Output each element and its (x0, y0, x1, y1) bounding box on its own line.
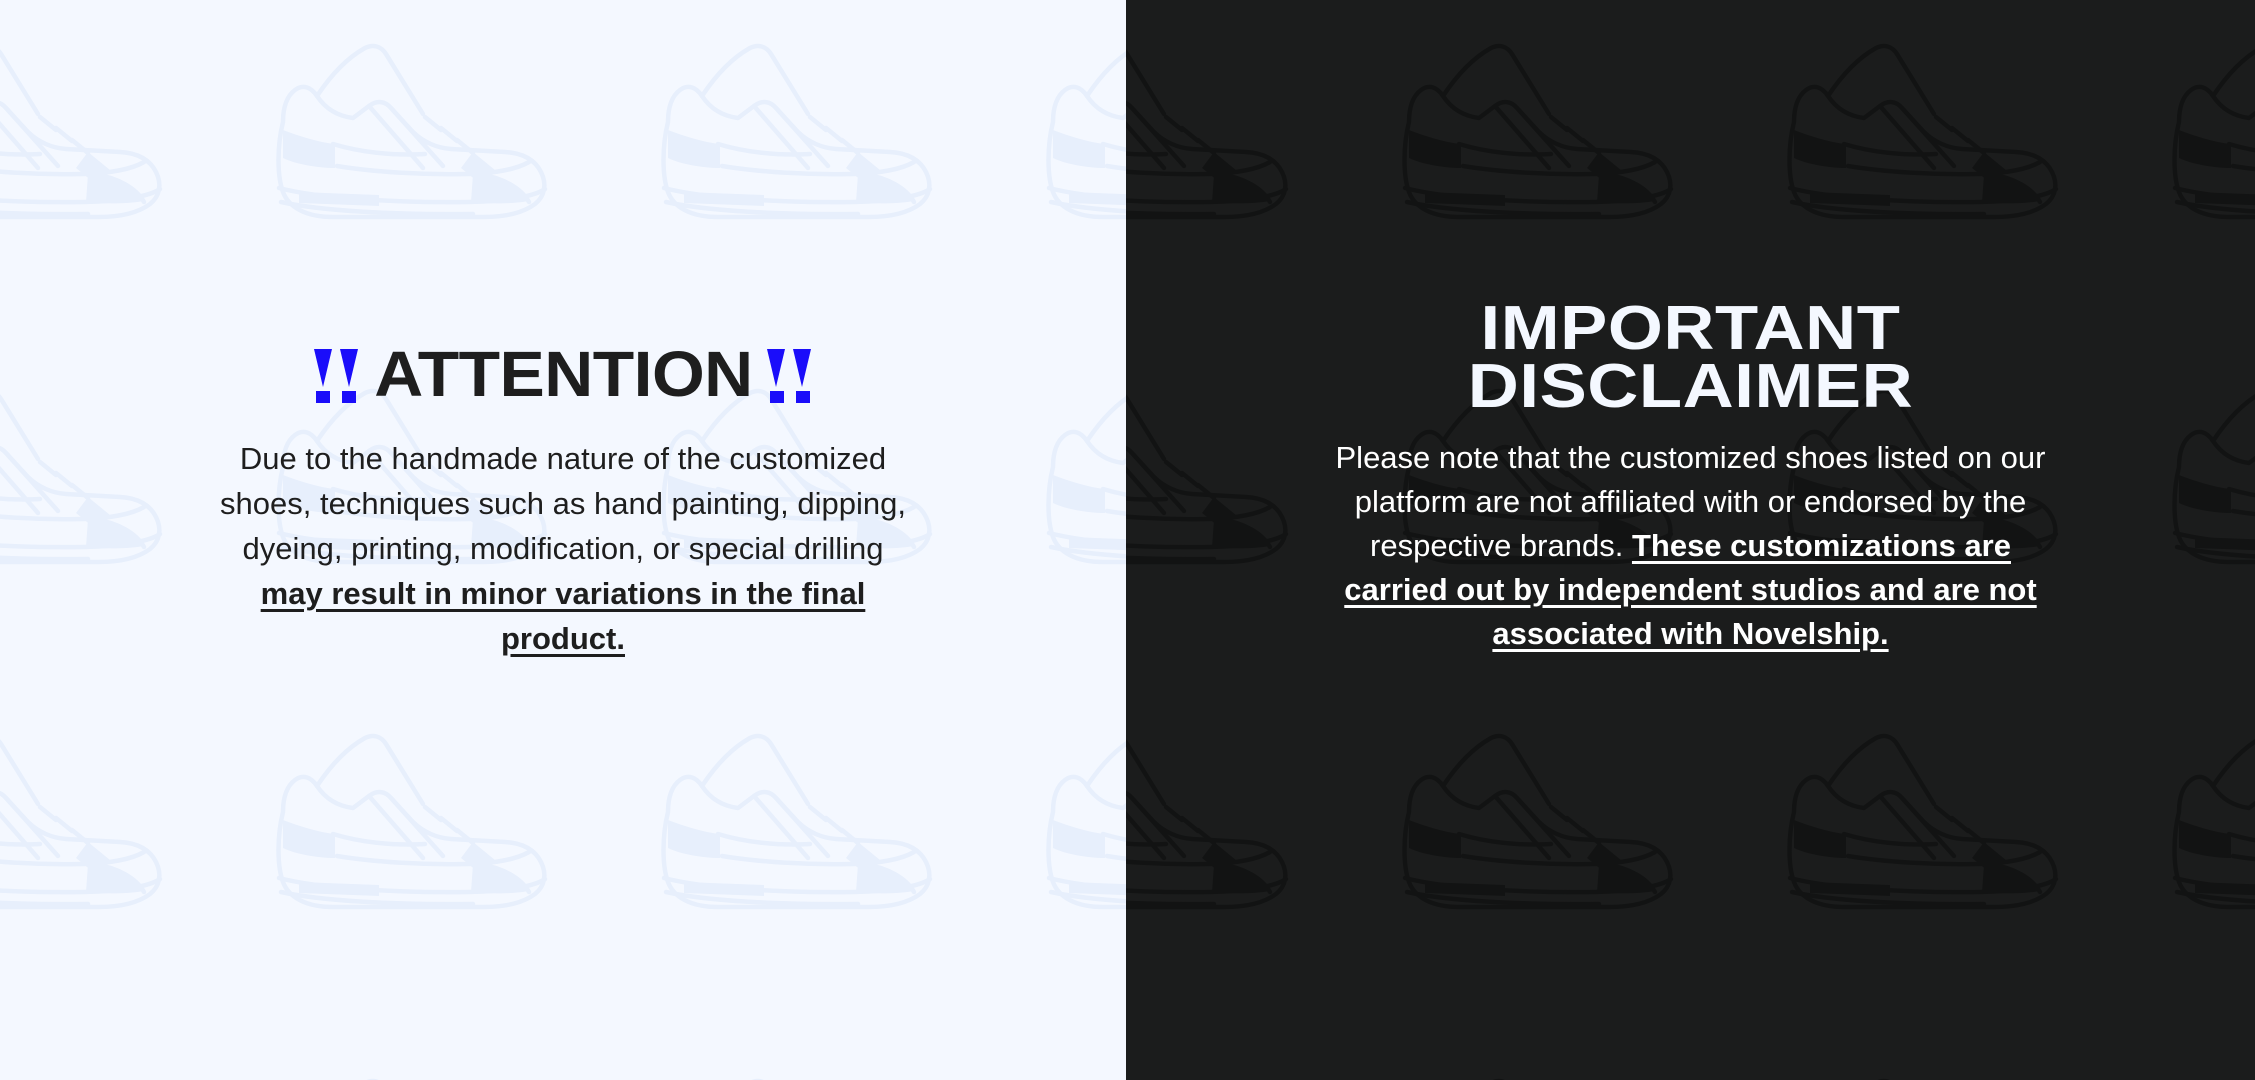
attention-body-normal: Due to the handmade nature of the custom… (220, 441, 906, 566)
disclaimer-heading: IMPORTANT DISCLAIMER (1126, 300, 2255, 416)
double-exclamation-mark-icon-right (767, 349, 812, 403)
disclaimer-heading-line-2: DISCLAIMER (1126, 358, 2255, 416)
disclaimer-panel: IMPORTANT DISCLAIMER Please note that th… (1126, 0, 2255, 1080)
disclaimer-content: IMPORTANT DISCLAIMER Please note that th… (1126, 300, 2255, 656)
disclaimer-heading-line-1: IMPORTANT (1126, 300, 2255, 358)
attention-content: ATTENTION Due to the handmade nature of … (0, 336, 1126, 661)
attention-heading-text: ATTENTION (374, 336, 752, 412)
disclaimer-banner: ATTENTION Due to the handmade nature of … (0, 0, 2255, 1080)
attention-body-emphasis: may result in minor variations in the fi… (261, 576, 866, 656)
attention-body: Due to the handmade nature of the custom… (213, 436, 913, 661)
attention-panel: ATTENTION Due to the handmade nature of … (0, 0, 1126, 1080)
attention-heading: ATTENTION (0, 336, 1126, 412)
double-exclamation-mark-icon-left (314, 349, 359, 403)
disclaimer-body: Please note that the customized shoes li… (1331, 436, 2051, 656)
